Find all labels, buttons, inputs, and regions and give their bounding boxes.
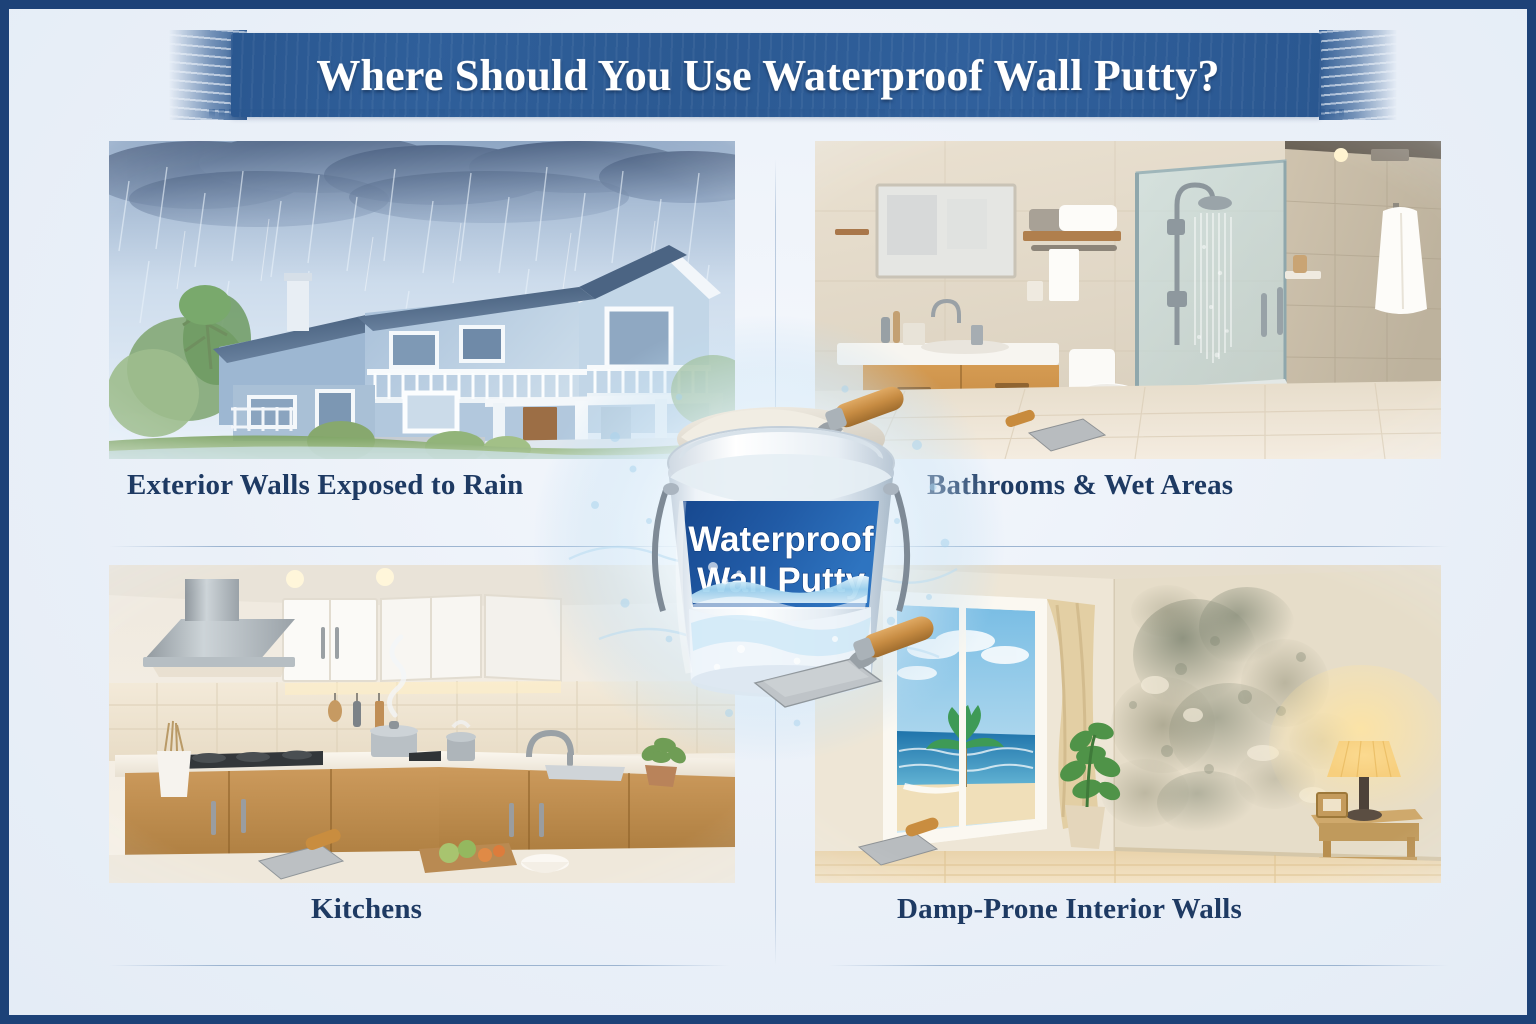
quadrant-label-kitchens: Kitchens — [71, 893, 771, 926]
putty-bucket-icon: Waterproof Wall Putty — [621, 381, 941, 711]
poster-canvas: Where Should You Use Waterproof Wall Put… — [9, 9, 1527, 1015]
infographic-poster: Where Should You Use Waterproof Wall Put… — [0, 0, 1536, 1024]
title-banner: Where Should You Use Waterproof Wall Put… — [9, 33, 1527, 117]
page-title: Where Should You Use Waterproof Wall Put… — [9, 33, 1527, 117]
quadrant-label-damp-prone-interior-walls: Damp-Prone Interior Walls — [777, 893, 1477, 926]
svg-text:Waterproof: Waterproof — [688, 520, 874, 559]
